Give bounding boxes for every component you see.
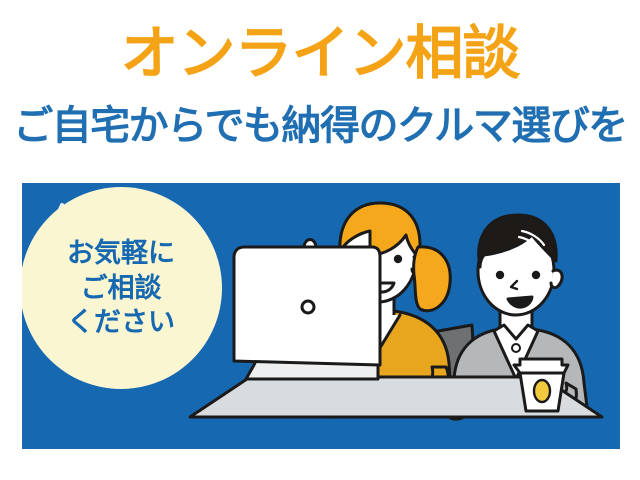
page-title: オンライン相談 (0, 24, 640, 85)
laptop (234, 247, 380, 379)
callout-badge: お気軽に ご相談 ください (22, 187, 222, 389)
badge-line-2: ご相談 (81, 271, 162, 306)
page-subtitle: ご自宅からでも納得のクルマ選びを (0, 104, 640, 148)
badge-line-1: お気軽に (67, 236, 175, 271)
illustration-panel: お気軽に ご相談 ください (22, 183, 620, 449)
badge-line-3: ください (67, 305, 175, 340)
online-consultation-banner: オンライン相談 ご自宅からでも納得のクルマ選びを (0, 0, 640, 480)
